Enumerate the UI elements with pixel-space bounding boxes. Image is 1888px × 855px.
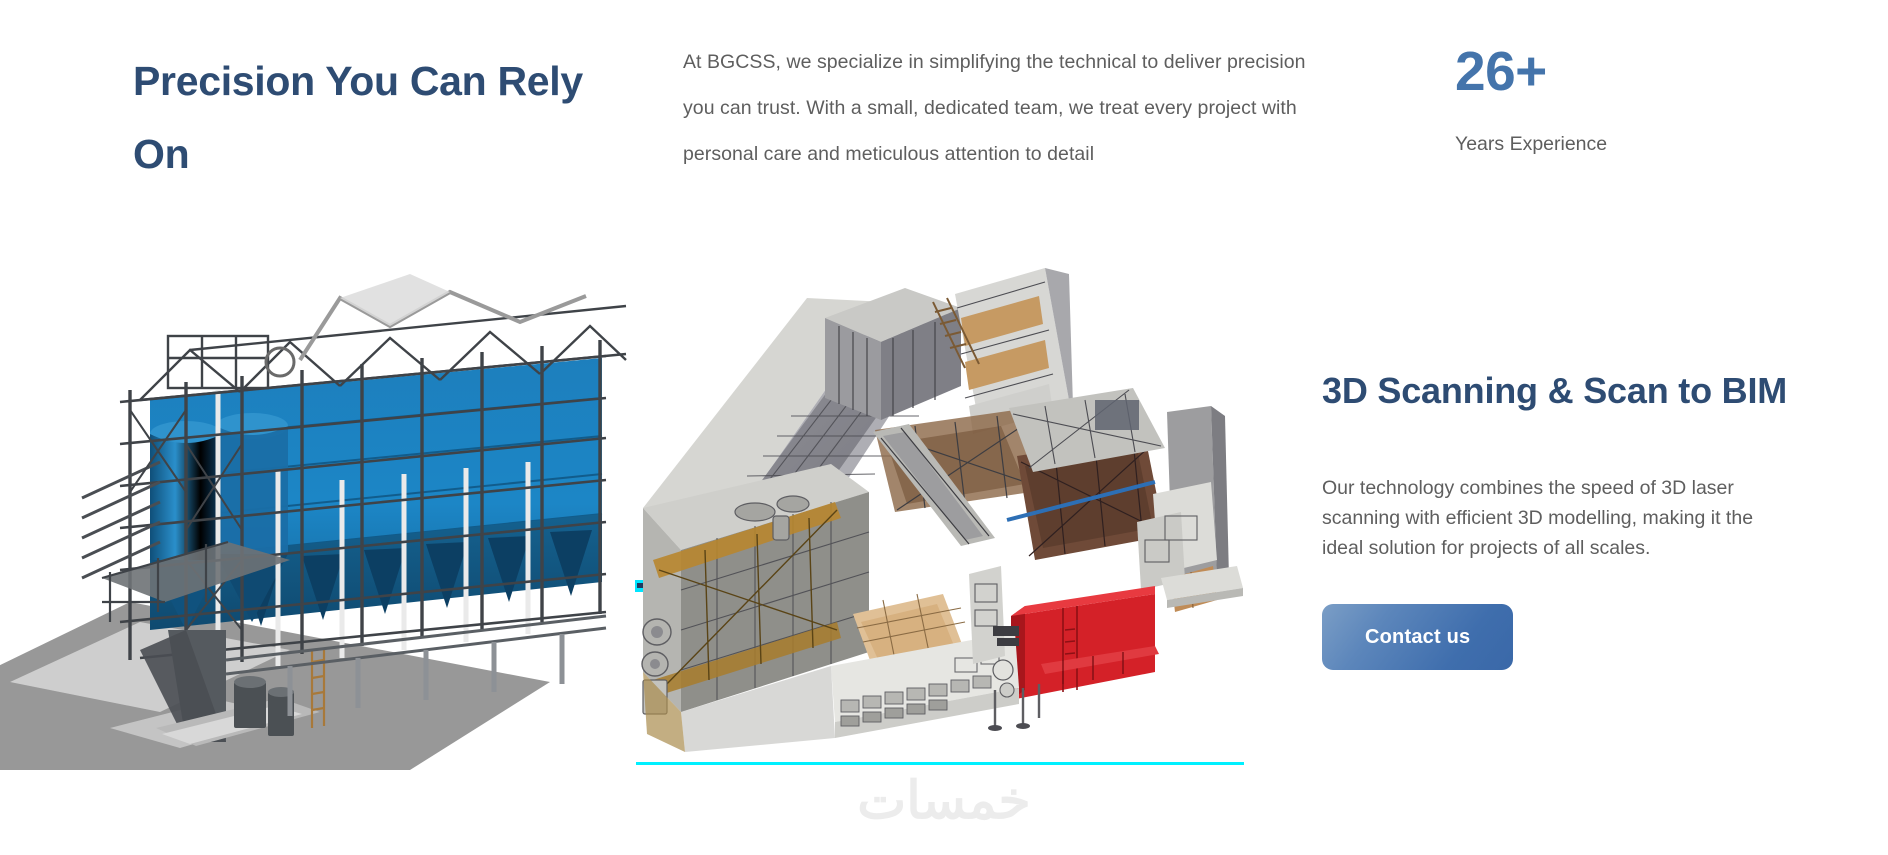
section-paragraph: Our technology combines the speed of 3D … [1322,473,1754,564]
accent-divider [636,762,1244,765]
service-copy: 3D Scanning & Scan to BIM Our technology… [1322,355,1862,670]
stat-value: 26+ [1455,40,1835,103]
intro-paragraph: At BGCSS, we specialize in simplifying t… [683,40,1323,177]
intro-section: Precision You Can Rely On At BGCSS, we s… [0,0,1888,230]
khamsat-watermark: خمسات [0,775,1888,827]
stat-label: Years Experience [1455,130,1835,159]
service-section: 3D Scanning & Scan to BIM Our technology… [0,230,1888,855]
contact-us-button[interactable]: Contact us [1322,604,1513,670]
experience-stat: 26+ Years Experience [1455,40,1835,160]
bim-building-cutaway-image [625,260,1265,760]
section-title: 3D Scanning & Scan to BIM [1322,355,1862,427]
page-root: Precision You Can Rely On At BGCSS, we s… [0,0,1888,855]
page-title: Precision You Can Rely On [133,45,613,191]
bim-industrial-model-image [0,230,630,790]
